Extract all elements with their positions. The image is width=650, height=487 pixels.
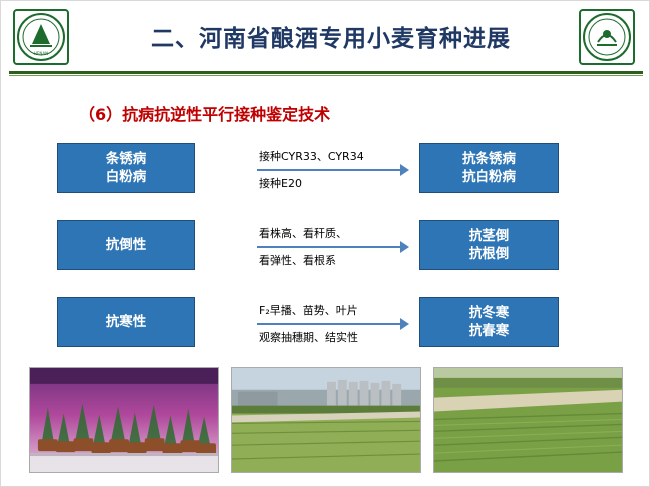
source-box-lodging-line1: 抗倒性 bbox=[106, 236, 147, 254]
row2-arrow-icon bbox=[257, 241, 409, 253]
target-box-lodging-line1: 抗茎倒 bbox=[469, 227, 510, 245]
row3-arrow-icon bbox=[257, 318, 409, 330]
source-box-disease-line1: 条锈病 bbox=[106, 150, 147, 168]
target-box-cold-resistance: 抗冬寒 抗春寒 bbox=[419, 297, 559, 347]
source-box-disease: 条锈病 白粉病 bbox=[57, 143, 195, 193]
target-box-disease-line2: 抗白粉病 bbox=[462, 168, 516, 186]
source-box-cold-line1: 抗寒性 bbox=[106, 313, 147, 331]
section-heading: （6）抗病抗逆性平行接种鉴定技术 bbox=[79, 101, 330, 125]
photo-hydroponic-seedlings bbox=[29, 367, 219, 473]
target-box-lodging-line2: 抗根倒 bbox=[469, 245, 510, 263]
header-divider bbox=[9, 71, 643, 74]
slide-header: HENAN 二、河南省酿酒专用小麦育种进展 bbox=[1, 1, 650, 73]
svg-text:HENAN: HENAN bbox=[34, 51, 48, 56]
institute-emblem-icon bbox=[579, 9, 635, 65]
target-box-cold-line2: 抗春寒 bbox=[469, 322, 510, 340]
source-box-disease-line2: 白粉病 bbox=[106, 168, 147, 186]
row1-arrow-icon bbox=[257, 164, 409, 176]
target-box-cold-line1: 抗冬寒 bbox=[469, 304, 510, 322]
target-box-lodging-resistance: 抗茎倒 抗根倒 bbox=[419, 220, 559, 270]
university-emblem-icon: HENAN bbox=[13, 9, 69, 65]
row2-label-1: 看株高、看秆质、 bbox=[259, 225, 347, 241]
row3-label-2: 观察抽穗期、结实性 bbox=[259, 329, 358, 345]
source-box-cold: 抗寒性 bbox=[57, 297, 195, 347]
target-box-disease-line1: 抗条锈病 bbox=[462, 150, 516, 168]
row1-label-2: 接种E20 bbox=[259, 175, 302, 191]
source-box-lodging: 抗倒性 bbox=[57, 220, 195, 270]
target-box-disease-resistance: 抗条锈病 抗白粉病 bbox=[419, 143, 559, 193]
row1-label-1: 接种CYR33、CYR34 bbox=[259, 148, 364, 164]
row3-label-1: F₂早播、苗势、叶片 bbox=[259, 302, 358, 318]
photo-field-plots-silos bbox=[231, 367, 421, 473]
header-divider-secondary bbox=[9, 75, 643, 76]
slide: HENAN 二、河南省酿酒专用小麦育种进展 （6）抗病抗逆性平行接种鉴定技术 条… bbox=[0, 0, 650, 487]
row2-label-2: 看弹性、看根系 bbox=[259, 252, 336, 268]
photo-green-wheat-field bbox=[433, 367, 623, 473]
page-title: 二、河南省酿酒专用小麦育种进展 bbox=[111, 19, 551, 53]
